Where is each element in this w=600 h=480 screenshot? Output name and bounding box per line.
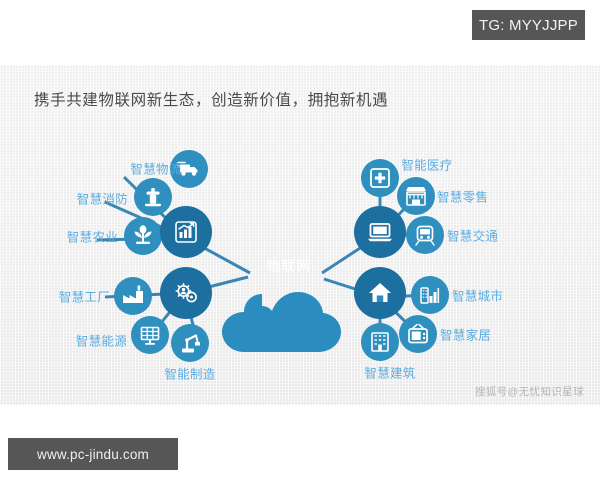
center-cloud-node <box>222 292 341 352</box>
screenshot-root: TG: MYYJJPP 携手共建物联网新生态，创造新价值，拥抱新机遇 <box>0 0 600 480</box>
node-transport <box>406 216 444 254</box>
label-智慧城市: 智慧城市 <box>452 286 503 305</box>
sohu-watermark: 搜狐号@无忧知识星球 <box>475 384 584 399</box>
label-智慧消防: 智慧消防 <box>77 189 128 208</box>
hub-lower-right <box>354 267 406 319</box>
hub-upper-left <box>160 206 212 258</box>
node-energy <box>131 316 169 354</box>
site-url-banner: www.pc-jindu.com <box>8 438 178 470</box>
node-factory <box>114 277 152 315</box>
label-智慧能源: 智慧能源 <box>76 331 127 350</box>
center-label: 物联网 <box>267 256 312 276</box>
node-manufacturing <box>171 324 209 362</box>
node-medical <box>361 159 399 197</box>
node-building <box>361 323 399 361</box>
label-智慧农业: 智慧农业 <box>67 227 118 246</box>
label-智能医疗: 智能医疗 <box>401 155 452 174</box>
hub-upper-right <box>354 206 406 258</box>
label-智慧工厂: 智慧工厂 <box>59 287 110 306</box>
label-智慧建筑: 智慧建筑 <box>364 363 415 382</box>
label-智慧零售: 智慧零售 <box>437 187 488 206</box>
label-智能制造: 智能制造 <box>164 364 215 383</box>
node-smart-home <box>399 315 437 353</box>
node-retail <box>397 177 435 215</box>
label-智慧物流: 智慧物流 <box>130 159 181 178</box>
node-city <box>411 276 449 314</box>
hub-lower-left <box>160 267 212 319</box>
tg-badge: TG: MYYJJPP <box>472 10 585 40</box>
node-agriculture <box>124 217 162 255</box>
node-fire-safety <box>134 178 172 216</box>
label-智慧家居: 智慧家居 <box>440 325 491 344</box>
label-智慧交通: 智慧交通 <box>447 226 498 245</box>
